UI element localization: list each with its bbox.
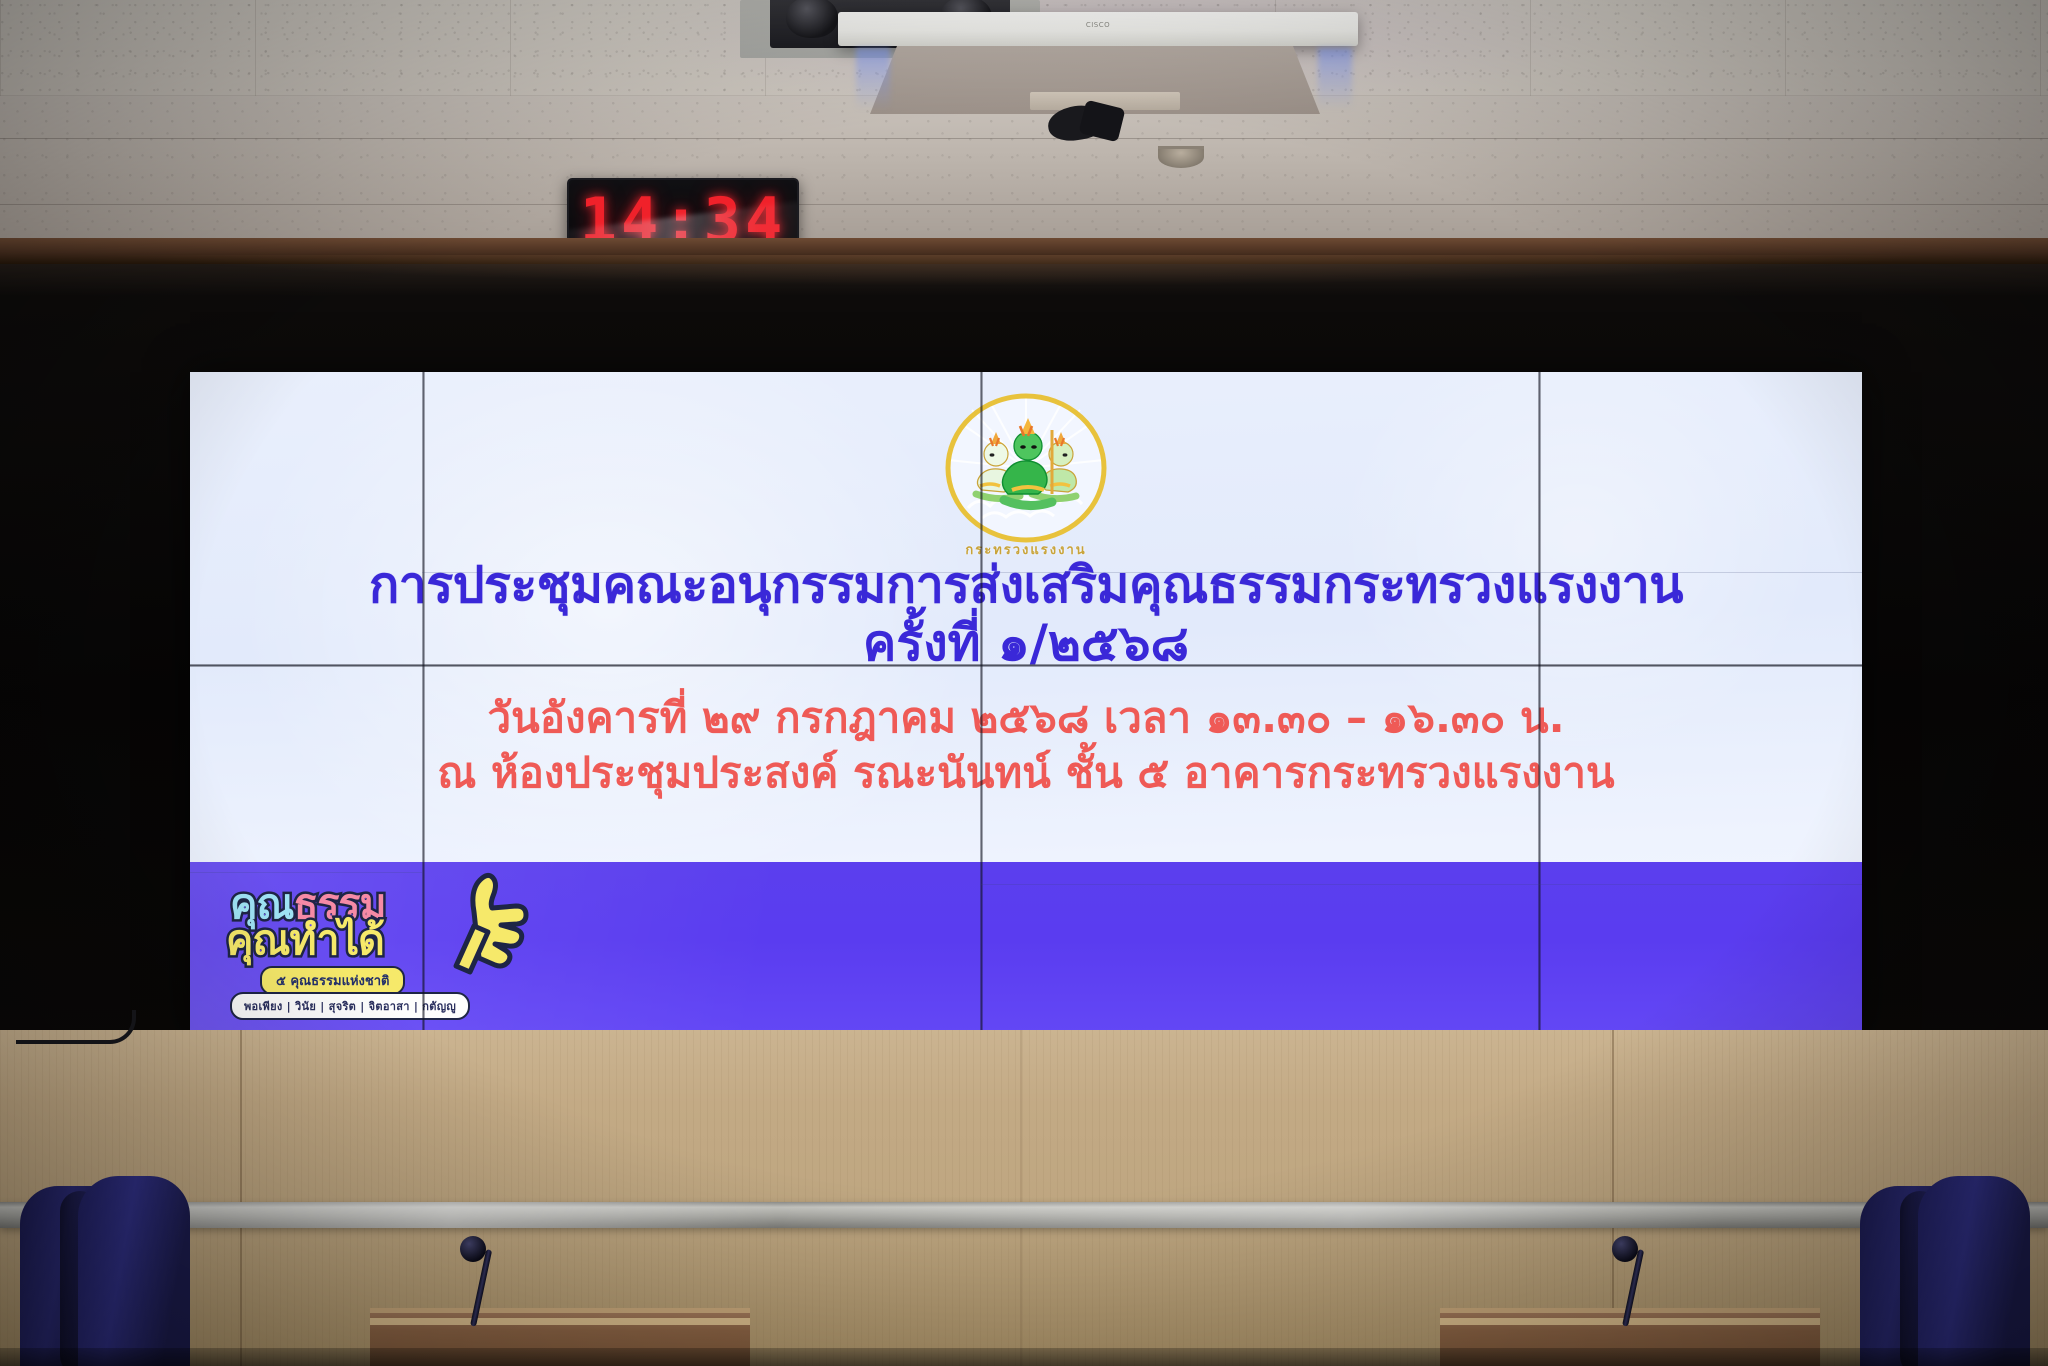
slide-title-line-1: การประชุมคณะอนุกรรมการส่งเสริมคุณธรรมกระ… [190,558,1862,612]
chair-right-outer [1860,1176,2030,1366]
moral-campaign-badge: คุณธรรม คุณทำได้ ๕ คุณธรรมแห่งชาติ พอเพี… [216,872,516,1024]
speaker-dome-left [786,0,838,38]
soffit-seam [0,138,2048,139]
thumbs-up-icon [444,868,530,976]
microphone-head-icon [460,1236,486,1262]
ministry-of-labour-emblem: กระทรวงแรงงาน [920,390,1132,558]
ceiling-light-bar: CISCO [838,12,1358,46]
hanging-cable [16,1010,136,1044]
ceiling-soffit [0,96,2048,246]
desk-microphone-left[interactable] [470,1248,476,1326]
sprinkler-head-icon [1158,146,1204,168]
desk-edge [1440,1318,1820,1325]
projector-glow-left [856,48,890,110]
video-wall-display[interactable]: กระทรวงแรงงาน การประชุมคณะอนุกรรมการส่งเ… [190,372,1862,1032]
light-bar-label: CISCO [1086,21,1110,29]
foreground-shadow [0,1348,2048,1366]
wood-panel-seam [1020,1030,1022,1366]
chair-backrest-secondary [1918,1176,2030,1366]
microphone-head-icon [1612,1236,1638,1262]
badge-line-2: คุณทำได้ [226,920,384,961]
chair-backrest-secondary [78,1176,190,1366]
emblem-icon [920,390,1132,558]
soffit-texture [0,96,2048,244]
wall-trim-highlight [0,255,2048,297]
metal-wall-rail [0,1202,2048,1228]
slide-title-line-2: ครั้งที่ ๑/๒๕๖๘ [190,617,1862,670]
slide-footer-band: คุณธรรม คุณทำได้ ๕ คุณธรรมแห่งชาติ พอเพี… [190,862,1862,1032]
soffit-seam [0,204,2048,205]
desk-microphone-right[interactable] [1622,1248,1628,1326]
conference-room-scene: CISCO 14:34 2972025 25 DAY MON YEAR °C [0,0,2048,1366]
presentation-slide: กระทรวงแรงงาน การประชุมคณะอนุกรรมการส่งเ… [190,372,1862,1032]
slide-detail-line-2: ณ ห้องประชุมประสงค์ รณะนันทน์ ชั้น ๕ อาค… [190,740,1862,806]
badge-pill-national: ๕ คุณธรรมแห่งชาติ [260,966,405,995]
chair-left-outer [20,1176,190,1366]
wood-panel-seam [240,1030,242,1366]
badge-pill-values: พอเพียง | วินัย | สุจริต | จิตอาสา | กตั… [230,992,470,1020]
projector-glow-right [1318,48,1352,110]
rail-reflection [0,1202,2048,1228]
desk-edge [370,1318,750,1325]
